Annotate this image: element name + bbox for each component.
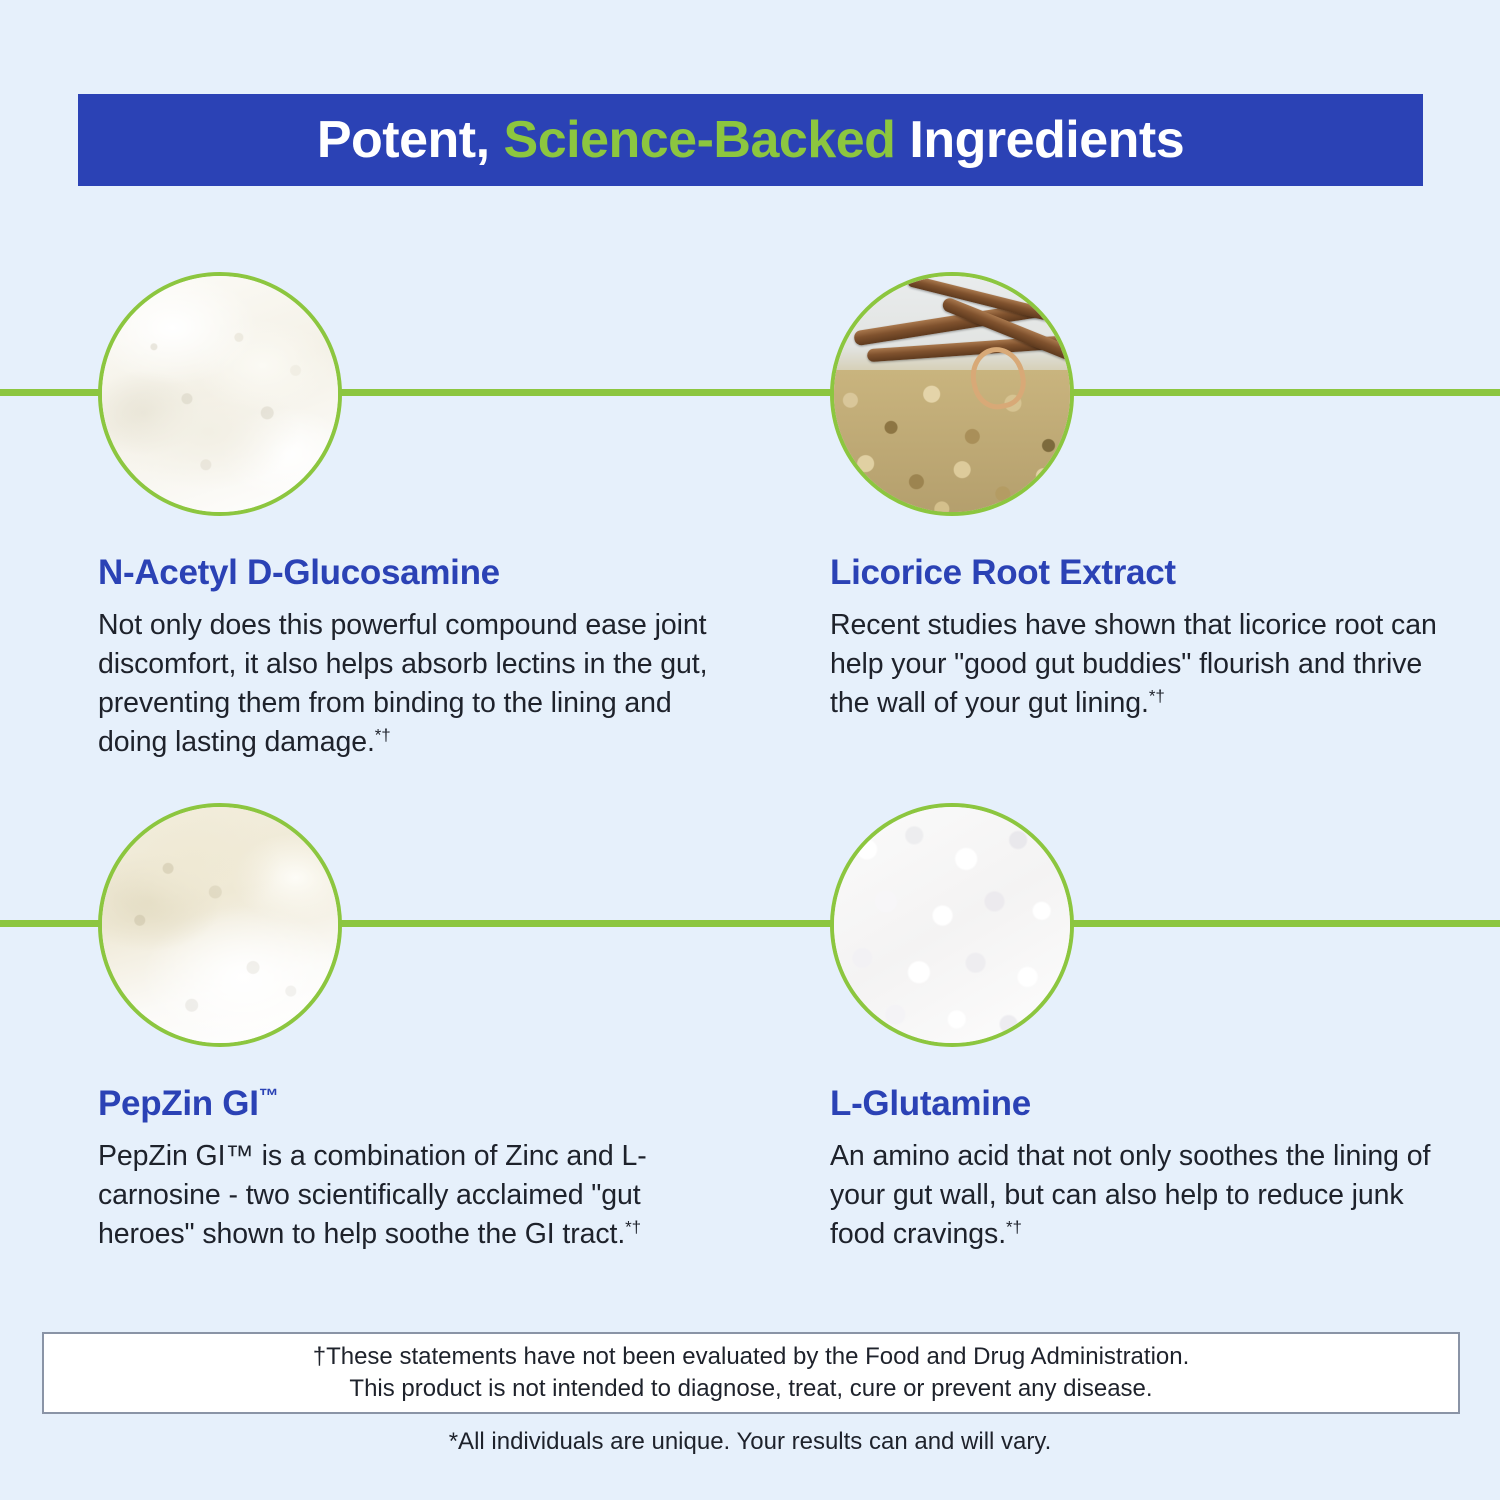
ingredient-card-pepzin-gi: PepZin GI™ PepZin GI™ is a combination o… (98, 803, 738, 1254)
disclaimer-line-2: This product is not intended to diagnose… (349, 1373, 1152, 1405)
trademark-symbol: ™ (259, 1085, 279, 1107)
results-footnote: *All individuals are unique. Your result… (0, 1428, 1500, 1456)
disclaimer-line-1: †These statements have not been evaluate… (313, 1341, 1190, 1373)
ingredient-description-wrapper: Recent studies have shown that licorice … (830, 606, 1450, 723)
ingredient-image-pepzin-gi (98, 803, 342, 1047)
beige-powder-icon (102, 807, 338, 1043)
ingredient-description: Not only does this powerful compound eas… (98, 609, 707, 758)
ingredient-card-n-acetyl-d-glucosamine: N-Acetyl D-Glucosamine Not only does thi… (98, 272, 738, 762)
ingredient-card-l-glutamine: L-Glutamine An amino acid that not only … (830, 803, 1470, 1254)
licorice-root-icon (834, 276, 1070, 512)
ingredient-name: PepZin GI (98, 1084, 259, 1123)
footnote-marker: *† (1149, 686, 1165, 705)
footnote-marker: *† (1006, 1217, 1022, 1236)
ingredient-title: Licorice Root Extract (830, 554, 1470, 593)
ingredient-description-wrapper: An amino acid that not only soothes the … (830, 1137, 1450, 1254)
ingredient-grid: N-Acetyl D-Glucosamine Not only does thi… (0, 0, 1500, 1500)
ingredients-infographic: Potent, Science-Backed Ingredients N-Ace… (0, 0, 1500, 1500)
ingredient-description: An amino acid that not only soothes the … (830, 1140, 1430, 1250)
ingredient-image-licorice-root-extract (830, 272, 1074, 516)
ingredient-image-n-acetyl-d-glucosamine (98, 272, 342, 516)
ingredient-name: L-Glutamine (830, 1084, 1031, 1123)
footnote-marker: *† (625, 1217, 641, 1236)
ingredient-name: Licorice Root Extract (830, 553, 1176, 592)
ingredient-description-wrapper: Not only does this powerful compound eas… (98, 606, 718, 762)
ingredient-title: PepZin GI™ (98, 1085, 738, 1124)
licorice-chips-shape (830, 370, 1074, 516)
footnote-marker: *† (375, 725, 391, 744)
white-crystals-icon (834, 807, 1070, 1043)
ingredient-title: L-Glutamine (830, 1085, 1470, 1124)
ingredient-title: N-Acetyl D-Glucosamine (98, 554, 738, 593)
ingredient-description: Recent studies have shown that licorice … (830, 609, 1437, 719)
white-powder-icon (102, 276, 338, 512)
ingredient-name: N-Acetyl D-Glucosamine (98, 553, 500, 592)
ingredient-card-licorice-root-extract: Licorice Root Extract Recent studies hav… (830, 272, 1470, 723)
ingredient-description-wrapper: PepZin GI™ is a combination of Zinc and … (98, 1137, 718, 1254)
ingredient-image-l-glutamine (830, 803, 1074, 1047)
fda-disclaimer-box: †These statements have not been evaluate… (42, 1332, 1460, 1414)
ingredient-description: PepZin GI™ is a combination of Zinc and … (98, 1140, 647, 1250)
